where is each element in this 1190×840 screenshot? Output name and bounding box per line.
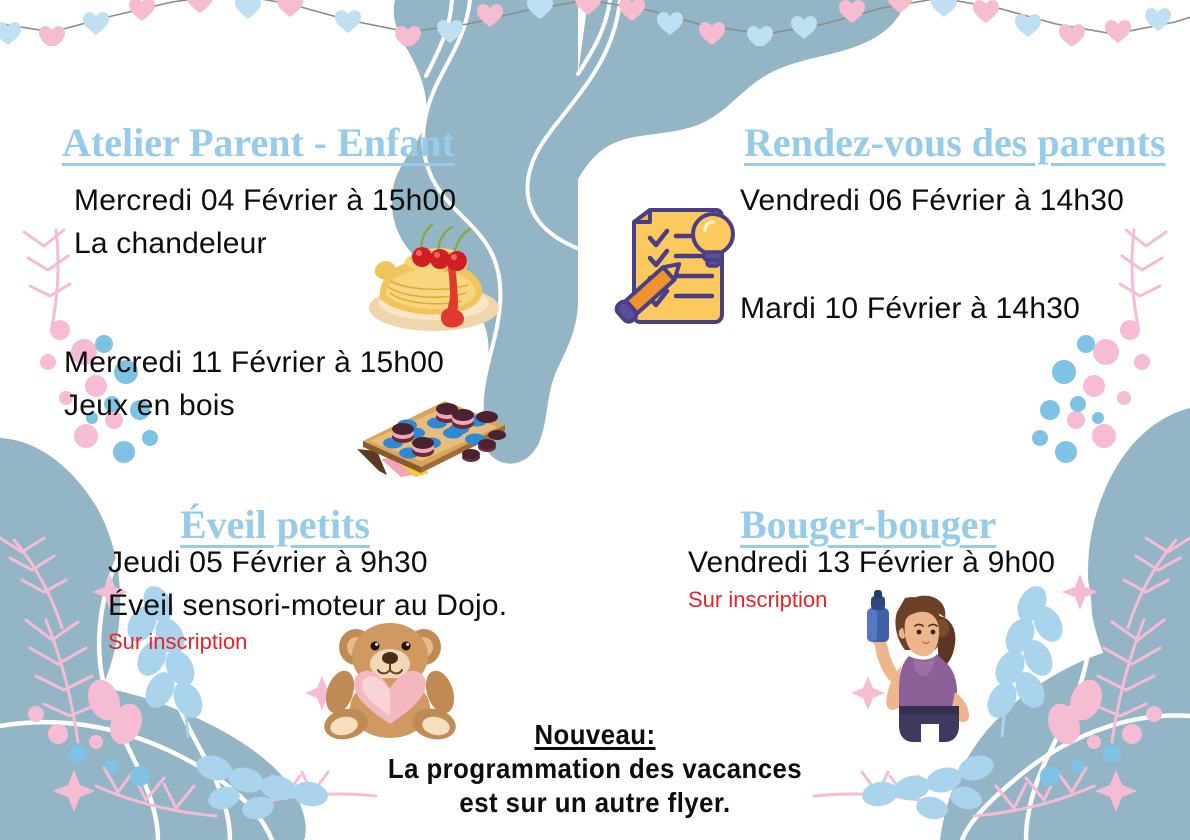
- notice-line-2: est sur un autre flyer.: [48, 786, 1143, 820]
- event-date: Mercredi 04 Février à 15h00: [74, 180, 456, 223]
- event-detail: Éveil sensori-moteur au Dojo.: [108, 585, 507, 628]
- event-date: Jeudi 05 Février à 9h30: [108, 542, 507, 585]
- event-atelier-2: Mercredi 11 Février à 15h00 Jeux en bois: [64, 342, 444, 427]
- event-rendezvous-1: Vendredi 06 Février à 14h30: [740, 180, 1124, 223]
- event-detail: Jeux en bois: [64, 385, 444, 428]
- section-title-rendez-vous-des-parents: Rendez-vous des parents: [744, 119, 1166, 166]
- flyer-page: Atelier Parent - Enfant Mercredi 04 Févr…: [0, 0, 1190, 840]
- event-date: Mercredi 11 Février à 15h00: [64, 342, 444, 385]
- registration-note: Sur inscription: [688, 585, 1055, 615]
- event-date: Vendredi 06 Février à 14h30: [740, 180, 1124, 223]
- new-info-notice: Nouveau: La programmation des vacances e…: [0, 718, 1190, 820]
- section-title-atelier-parent-enfant: Atelier Parent - Enfant: [62, 119, 455, 166]
- event-rendezvous-2: Mardi 10 Février à 14h30: [740, 288, 1080, 331]
- event-detail: La chandeleur: [74, 223, 456, 266]
- event-date: Vendredi 13 Février à 9h00: [688, 542, 1055, 585]
- registration-note: Sur inscription: [108, 627, 507, 657]
- event-atelier-1: Mercredi 04 Février à 15h00 La chandeleu…: [74, 180, 456, 265]
- notice-heading: Nouveau:: [48, 718, 1143, 752]
- event-bouger-1: Vendredi 13 Février à 9h00 Sur inscripti…: [688, 542, 1055, 614]
- event-eveil-1: Jeudi 05 Février à 9h30 Éveil sensori-mo…: [108, 542, 507, 657]
- event-date: Mardi 10 Février à 14h30: [740, 288, 1080, 331]
- notice-line-1: La programmation des vacances: [48, 752, 1143, 786]
- flyer-content: Atelier Parent - Enfant Mercredi 04 Févr…: [0, 0, 1190, 840]
